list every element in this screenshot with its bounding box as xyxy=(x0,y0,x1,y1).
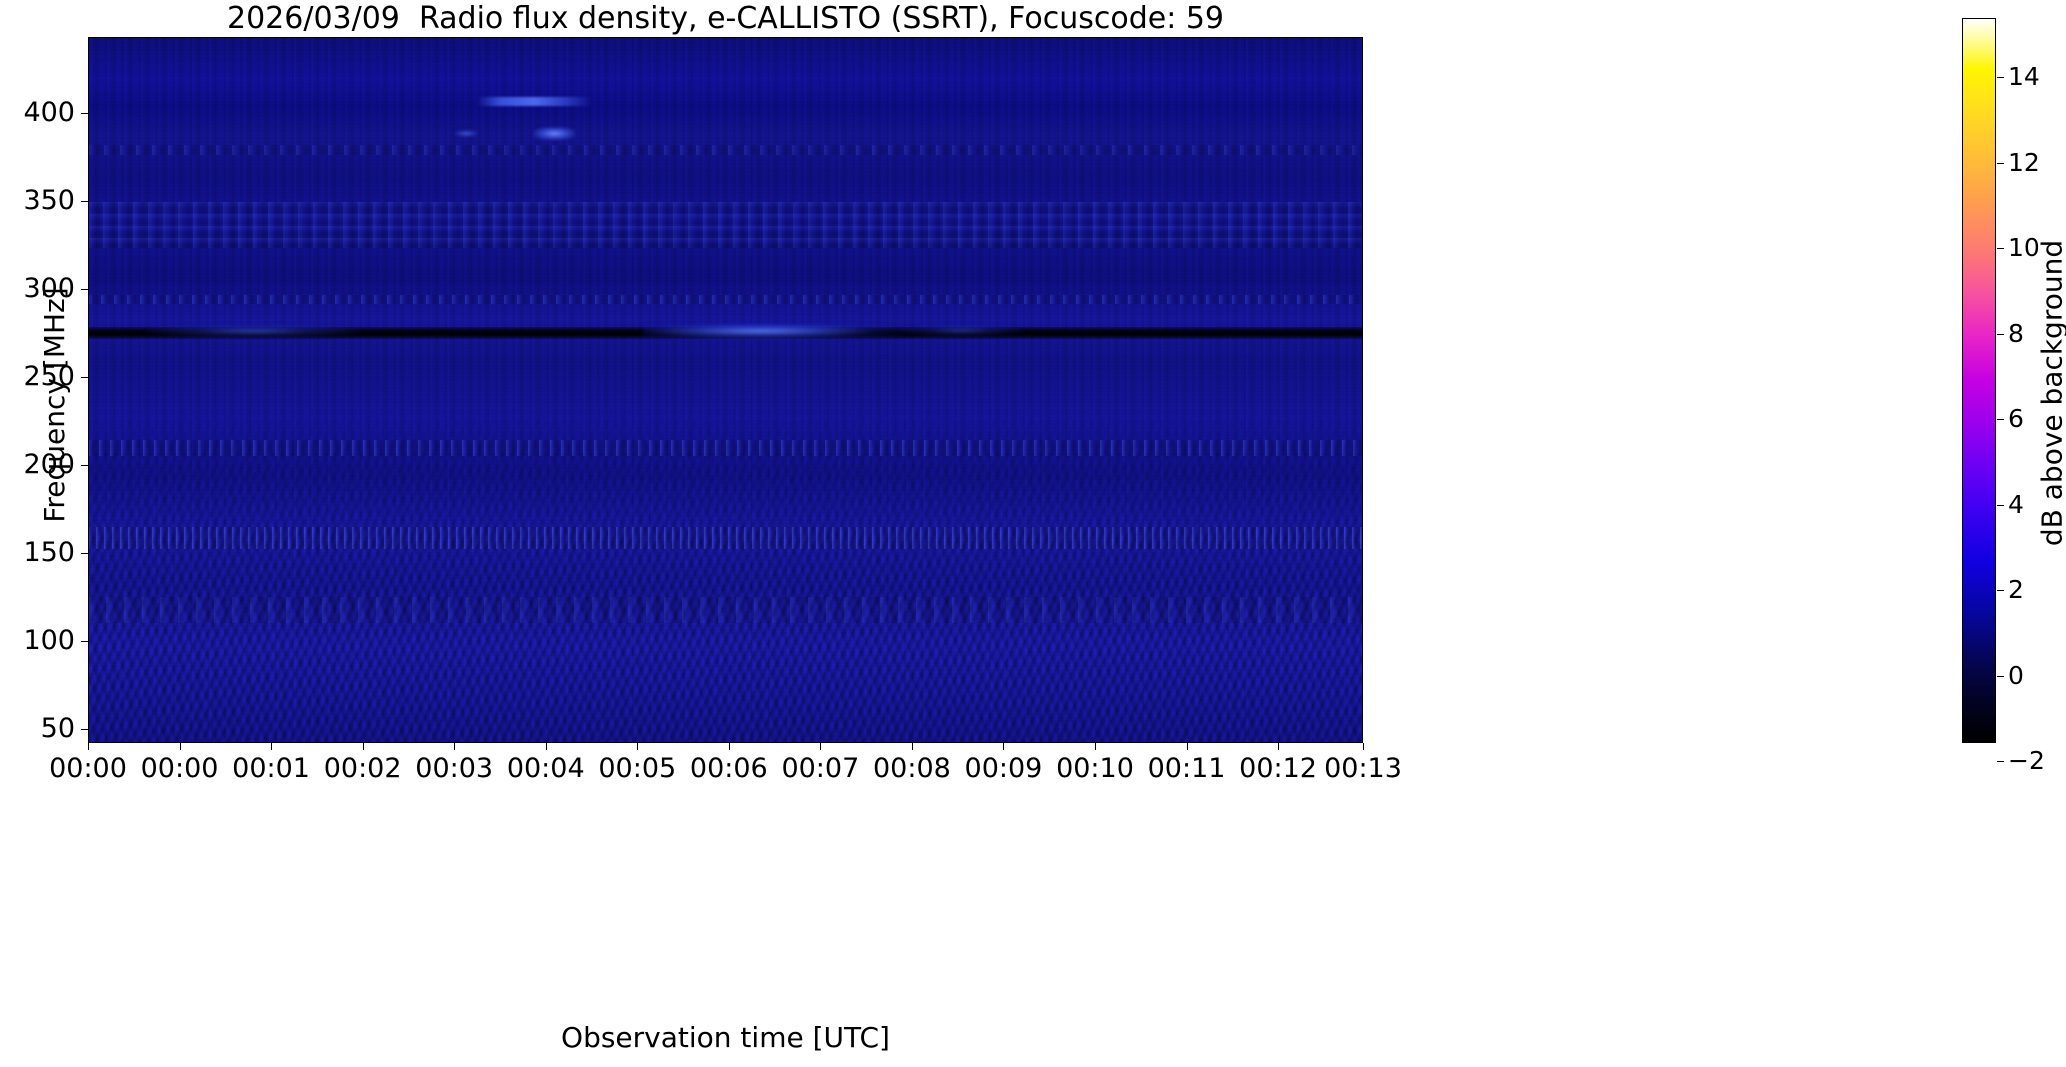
x-tick-mark xyxy=(820,743,821,750)
x-tick-mark xyxy=(454,743,455,750)
colorbar-tick-label: 8 xyxy=(2008,321,2024,346)
x-tick-mark xyxy=(1003,743,1004,750)
y-tick-mark xyxy=(81,113,88,114)
y-axis-label: Frequency [MHz] xyxy=(40,52,70,758)
colorbar-tick-mark xyxy=(1997,590,2004,591)
colorbar[interactable] xyxy=(1962,18,1996,743)
colorbar-tick-mark xyxy=(1997,77,2004,78)
y-tick-mark xyxy=(81,553,88,554)
feature-emission-segment-280mhz-early xyxy=(145,325,362,337)
x-tick-mark xyxy=(729,743,730,750)
colorbar-tick-mark xyxy=(1997,334,2004,335)
feature-faint-line-390mhz xyxy=(88,145,1363,155)
figure-canvas: 2026/03/09 Radio flux density, e-CALLIST… xyxy=(0,0,2066,1067)
colorbar-tick-label: 6 xyxy=(2008,406,2024,431)
feature-patch-385mhz-b xyxy=(451,129,482,138)
colorbar-tick-mark xyxy=(1997,505,2004,506)
colorbar-tick-mark xyxy=(1997,761,2004,762)
x-tick-mark xyxy=(363,743,364,750)
spectrogram-low-freq-hash xyxy=(88,37,1363,743)
colorbar-tick-mark xyxy=(1997,419,2004,420)
y-tick-mark xyxy=(81,465,88,466)
x-tick-mark xyxy=(1278,743,1279,750)
x-tick-mark xyxy=(88,743,89,750)
x-tick-mark xyxy=(1363,743,1364,750)
x-tick-mark xyxy=(637,743,638,750)
feature-ripple-band-125mhz xyxy=(88,597,1363,623)
y-tick-mark xyxy=(81,641,88,642)
feature-emission-burst-280mhz xyxy=(643,322,924,340)
colorbar-tick-label: 14 xyxy=(2008,64,2040,89)
feature-faint-line-300mhz xyxy=(88,295,1363,304)
x-axis-label: Observation time [UTC] xyxy=(88,1022,1363,1054)
page-title: 2026/03/09 Radio flux density, e-CALLIST… xyxy=(88,2,1363,36)
y-tick-mark xyxy=(81,377,88,378)
y-tick-mark xyxy=(81,289,88,290)
colorbar-tick-label: 4 xyxy=(2008,492,2024,517)
y-tick-mark xyxy=(81,729,88,730)
x-tick-mark xyxy=(912,743,913,750)
colorbar-tick-mark xyxy=(1997,676,2004,677)
x-tick-mark xyxy=(1187,743,1188,750)
colorbar-tick-label: 12 xyxy=(2008,150,2040,175)
spectrogram-axes[interactable] xyxy=(88,37,1363,743)
colorbar-tick-mark xyxy=(1997,163,2004,164)
feature-ripple-band-200mhz xyxy=(88,440,1363,456)
x-tick-mark xyxy=(271,743,272,750)
y-tick-mark xyxy=(81,201,88,202)
colorbar-tick-mark xyxy=(1997,248,2004,249)
feature-ripple-band-150mhz xyxy=(88,527,1363,549)
colorbar-label: dB above background xyxy=(2038,31,2066,756)
feature-structured-region-350mhz xyxy=(88,202,1363,248)
x-tick-mark xyxy=(546,743,547,750)
feature-patch-400mhz xyxy=(477,97,592,106)
colorbar-tick-label: 2 xyxy=(2008,577,2024,602)
x-tick-mark xyxy=(1095,743,1096,750)
feature-emission-segment-280mhz-late xyxy=(898,325,1026,336)
colorbar-tick-label: 0 xyxy=(2008,663,2024,688)
x-tick-mark xyxy=(180,743,181,750)
x-tick-label: 00:13 xyxy=(1278,754,1448,784)
feature-patch-385mhz xyxy=(534,127,575,140)
